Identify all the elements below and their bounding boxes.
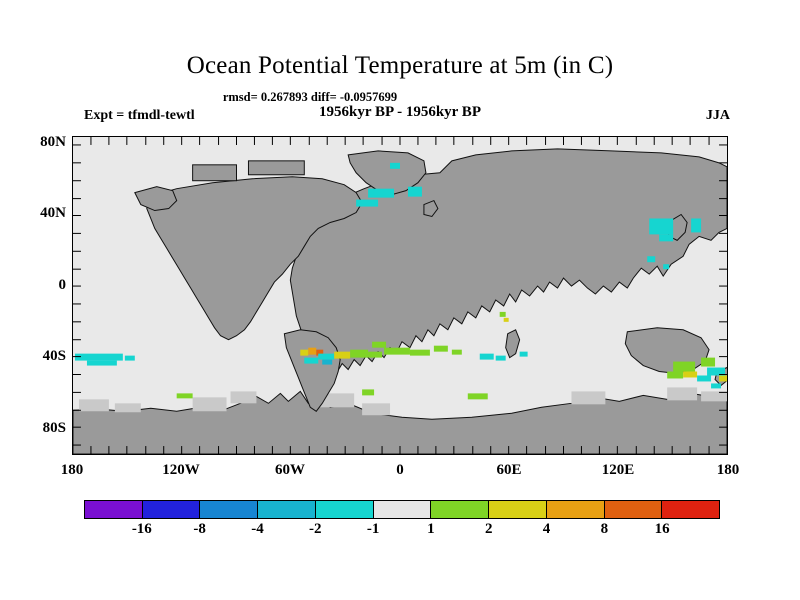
colorbar-segment	[605, 501, 663, 518]
anomaly-antarctic-coast	[362, 389, 374, 395]
y-axis-tick-label: 80N	[26, 134, 66, 151]
season-label: JJA	[706, 108, 730, 124]
colorbar-segment	[85, 501, 143, 518]
x-axis-tick-label: 60W	[250, 462, 330, 479]
colorbar-segment	[200, 501, 258, 518]
experiment-label: Expt = tfmdl-tewtl	[84, 108, 195, 124]
x-axis-tick-label: 180	[32, 462, 112, 479]
colorbar-tick-labels: -16-8-4-2-1124816	[84, 521, 720, 543]
x-axis-tick-label: 60E	[469, 462, 549, 479]
x-axis-tick-label: 120E	[578, 462, 658, 479]
colorbar-segments	[84, 500, 720, 519]
colorbar-tick-label: 4	[517, 521, 577, 538]
colorbar-tick-label: 1	[401, 521, 461, 538]
colorbar-segment	[489, 501, 547, 518]
colorbar-tick-label: 2	[459, 521, 519, 538]
colorbar-segment	[431, 501, 489, 518]
colorbar-tick-label: -8	[170, 521, 230, 538]
y-axis-tick-label: 0	[26, 277, 66, 294]
colorbar-tick-label: -2	[285, 521, 345, 538]
colorbar-tick-label: 16	[632, 521, 692, 538]
statistics-annotation: rmsd= 0.267893 diff= -0.0957699	[0, 90, 620, 105]
x-axis-tick-label: 120W	[141, 462, 221, 479]
colorbar-tick-label: -4	[227, 521, 287, 538]
colorbar-segment	[547, 501, 605, 518]
colorbar-segment	[258, 501, 316, 518]
colorbar-segment	[662, 501, 719, 518]
colorbar	[84, 500, 720, 519]
land-arctic-islands-2	[248, 161, 304, 175]
x-axis-tick-label: 180	[688, 462, 768, 479]
land-arctic-islands	[193, 165, 237, 181]
colorbar-tick-label: -16	[112, 521, 172, 538]
colorbar-segment	[374, 501, 432, 518]
colorbar-segment	[316, 501, 374, 518]
map-canvas	[73, 137, 727, 454]
y-axis-tick-label: 80S	[26, 420, 66, 437]
colorbar-segment	[143, 501, 201, 518]
y-axis-tick-label: 40N	[26, 205, 66, 222]
y-axis-tick-label: 40S	[26, 348, 66, 365]
page-title: Ocean Potential Temperature at 5m (in C)	[0, 52, 800, 80]
colorbar-tick-label: 8	[574, 521, 634, 538]
x-axis-tick-label: 0	[360, 462, 440, 479]
colorbar-tick-label: -1	[343, 521, 403, 538]
world-map-plot	[72, 136, 728, 455]
